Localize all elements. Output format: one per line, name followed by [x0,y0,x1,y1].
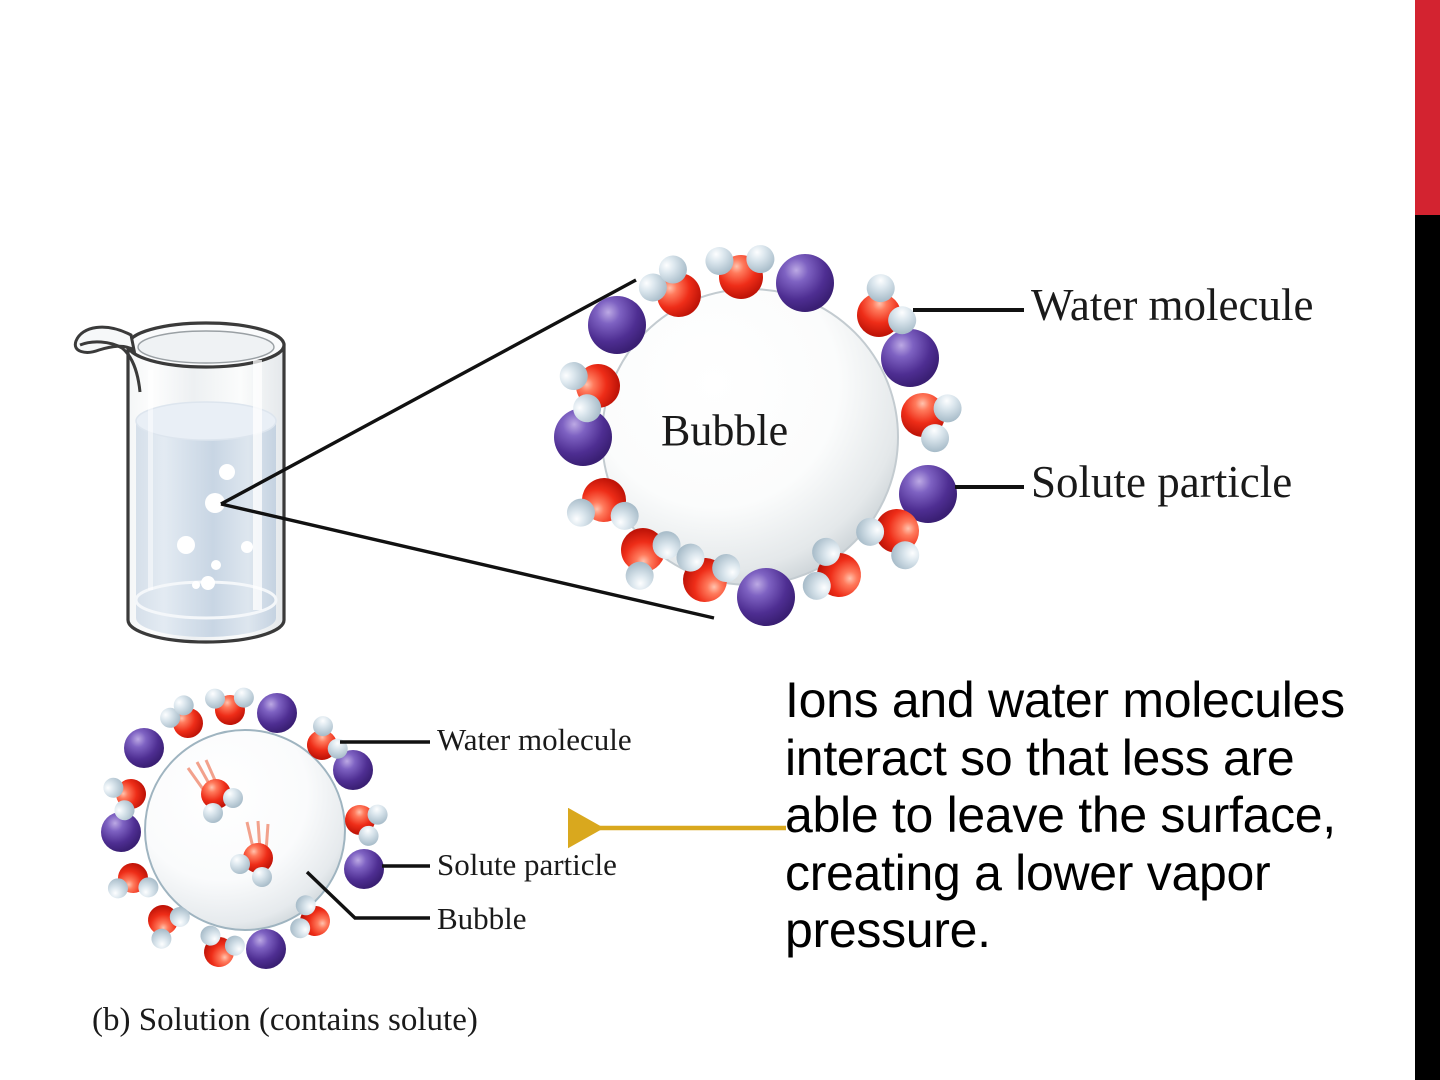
label-bubble-bottom: Bubble [437,903,527,934]
figure-caption: (b) Solution (contains solute) [92,1004,478,1037]
label-water-molecule-bottom: Water molecule [437,724,632,755]
slide-canvas: Bubble Water molecule Solute particle Wa… [0,0,1440,1080]
label-solute-particle-bottom: Solute particle [437,849,617,880]
slide-body-text: Ions and water molecules interact so tha… [785,672,1345,960]
beaker [75,323,284,642]
bottom-bubble-diagram [93,680,430,970]
label-water-molecule-top: Water molecule [1031,283,1313,328]
label-solute-particle-top: Solute particle [1031,460,1292,505]
bubble-center-label-top: Bubble [661,409,788,453]
